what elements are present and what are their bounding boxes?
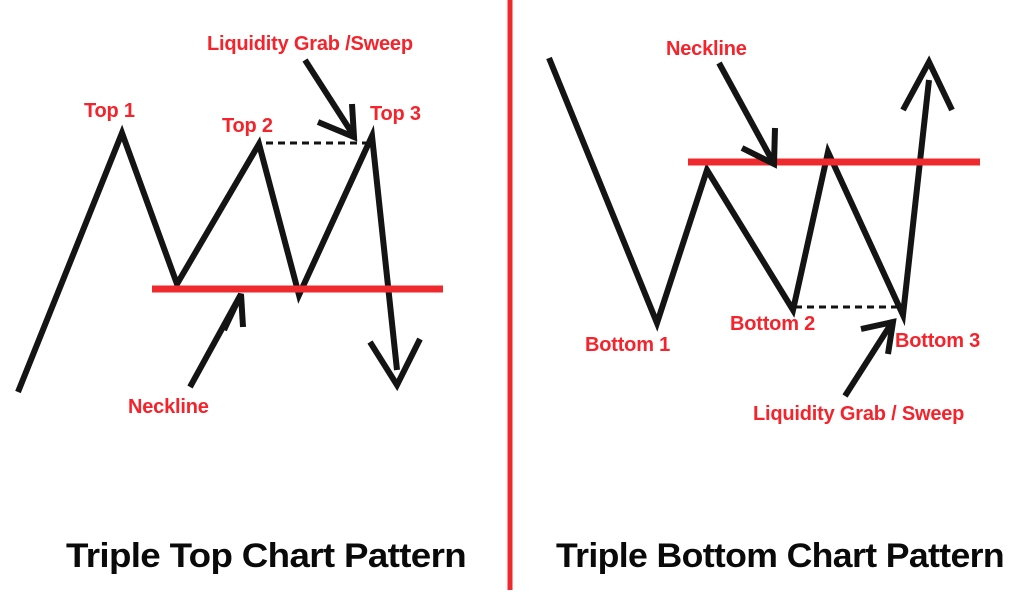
label-right-neckline: Neckline (666, 38, 747, 60)
label-left-neckline: Neckline (128, 396, 209, 418)
label-bottom-3: Bottom 3 (895, 330, 980, 352)
label-left-liquidity-grab: Liquidity Grab /Sweep (207, 33, 413, 55)
left-neckline-pointer-arrow-icon (190, 294, 243, 387)
label-top-3: Top 3 (370, 103, 421, 125)
right-liquidity-pointer-arrow-icon (845, 322, 893, 396)
right-panel-triple-bottom: Bottom 1 Bottom 2 Bottom 3 Neckline Liqu… (549, 38, 980, 425)
right-panel-title: Triple Bottom Chart Pattern (556, 537, 1004, 575)
left-panel-title: Triple Top Chart Pattern (66, 537, 466, 575)
label-top-2: Top 2 (222, 115, 273, 137)
chart-pattern-illustration: Top 1 Top 2 Top 3 Liquidity Grab /Sweep … (0, 0, 1024, 607)
label-bottom-2: Bottom 2 (730, 313, 815, 335)
label-bottom-1: Bottom 1 (585, 334, 670, 356)
left-panel-triple-top: Top 1 Top 2 Top 3 Liquidity Grab /Sweep … (18, 33, 443, 418)
right-neckline-pointer-arrow-icon (719, 63, 775, 164)
figure-canvas: Top 1 Top 2 Top 3 Liquidity Grab /Sweep … (0, 0, 1024, 607)
label-top-1: Top 1 (84, 100, 135, 122)
left-liquidity-pointer-arrow-icon (305, 60, 354, 137)
label-right-liquidity-grab: Liquidity Grab / Sweep (753, 403, 964, 425)
